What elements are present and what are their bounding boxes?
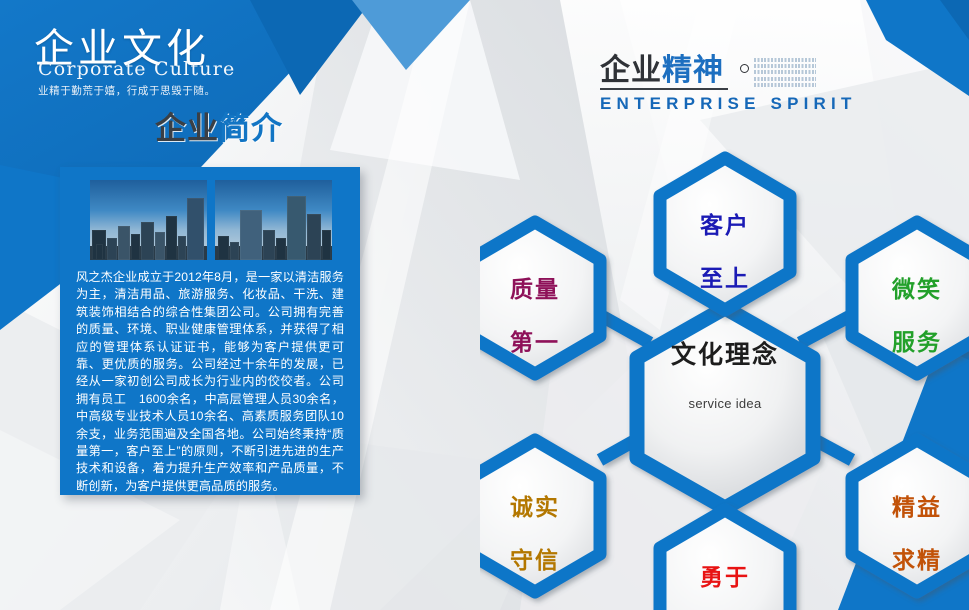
hex-node-upper-right [852, 222, 969, 374]
page-title-dark-part: 企业 [155, 111, 219, 146]
hex-node-top [660, 158, 790, 310]
decorative-circle-icon [740, 64, 749, 73]
enterprise-spirit-title: 企业精神 [600, 56, 724, 86]
hex-node-upper-left [480, 222, 600, 374]
hex-node-bottom [660, 510, 790, 610]
page-title-blue-part: 简介 [219, 111, 283, 146]
photo-strip [90, 180, 332, 260]
page-title: 企业简介 [155, 113, 283, 144]
hex-center [637, 308, 813, 508]
corporate-culture-title-en: Corporate Culture [38, 58, 235, 80]
decorative-microtext [754, 58, 816, 88]
enterprise-spirit-title-blue: 精神 [662, 54, 724, 87]
corporate-culture-subtitle: 业精于勤荒于嬉，行成于思毁于随。 [38, 83, 216, 98]
cityscape-photo-left [90, 180, 207, 260]
company-profile-text: 风之杰企业成立于2012年8月，是一家以清洁服务为主，清洁用品、旅游服务、化妆品… [76, 269, 344, 495]
cityscape-photo-right [215, 180, 332, 260]
hex-node-lower-left [480, 440, 600, 592]
hex-node-lower-right [852, 440, 969, 592]
culture-hex-diagram: 文化理念 service idea 客户 至上 质量 第一 微笑 服务 诚实 守… [480, 110, 969, 610]
slide-canvas: 企业文化 Corporate Culture 业精于勤荒于嬉，行成于思毁于随。 … [0, 0, 969, 610]
title-underline-divider [600, 88, 728, 90]
company-profile-card: 风之杰企业成立于2012年8月，是一家以清洁服务为主，清洁用品、旅游服务、化妆品… [60, 167, 360, 495]
enterprise-spirit-title-dark: 企业 [600, 54, 662, 87]
hex-diagram-svg [480, 110, 969, 610]
